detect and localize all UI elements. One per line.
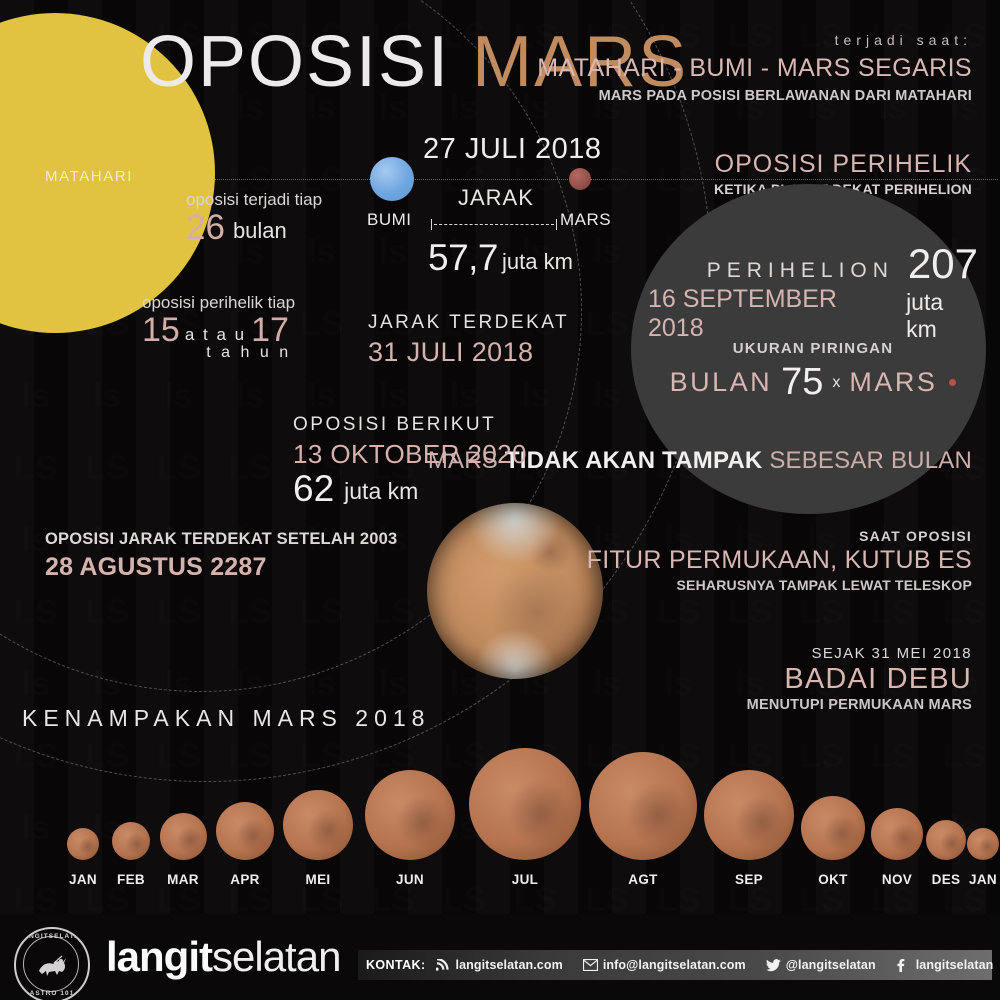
alignment-note: terjadi saat: MATAHARI - BUMI - MARS SEG… (537, 32, 972, 104)
distance-measure-bar (431, 219, 557, 229)
timeline-mars-disc (871, 808, 923, 860)
title-part-one: OPOSISI (140, 22, 450, 102)
perihelic-interval-block: oposisi perihelik tiap 15 a t a u 17 t a… (142, 293, 295, 362)
timeline-mars-disc (160, 813, 207, 860)
sun-label: MATAHARI (45, 168, 133, 185)
contact-label: KONTAK: (366, 958, 426, 972)
surface-features-caption: SAAT OPOSISI (587, 528, 972, 544)
measure-line (434, 224, 554, 225)
centaur-figure-icon (35, 951, 69, 979)
contact-item[interactable]: langitselatan (896, 958, 994, 972)
surface-features-sub: SEHARUSNYA TAMPAK LEWAT TELESKOP (587, 577, 972, 593)
distance-value: 57,7 (428, 237, 498, 279)
timeline-month-label: FEB (117, 872, 145, 887)
alignment-note-line1: terjadi saat: (537, 32, 972, 48)
brand-wordmark: langitselatan (106, 936, 340, 978)
perihelion-date: 16 SEPTEMBER 2018 (648, 285, 892, 343)
timeline-mars-disc (589, 752, 697, 860)
contact-item[interactable]: langitselatan.com (436, 958, 563, 972)
closest-approach-caption: JARAK TERDEKAT (368, 312, 569, 334)
mars-dot-icon (949, 379, 956, 386)
opposition-interval-value: 26 (186, 208, 225, 248)
contact-text: @langitselatan (786, 958, 876, 972)
opposition-interval-caption: oposisi terjadi tiap (186, 190, 322, 210)
infographic-poster: LSLSLSLSLSLSLSLSLSLSLSLSLSLSlslslslslsls… (0, 0, 1000, 1000)
closest-since-2003-block: OPOSISI JARAK TERDEKAT SETELAH 2003 28 A… (45, 530, 397, 582)
next-opposition-date: 13 OKTOBER 2020 (293, 439, 527, 470)
opposition-interval-block: oposisi terjadi tiap 26 bulan (186, 190, 322, 248)
next-opposition-unit: juta km (344, 478, 418, 510)
contact-item[interactable]: @langitselatan (766, 958, 876, 972)
times-symbol: x (832, 374, 840, 392)
myth-post: SEBESAR BULAN (769, 447, 972, 474)
surface-features-heading: FITUR PERMUKAAN, KUTUB ES (587, 546, 972, 575)
surface-features-block: SAAT OPOSISI FITUR PERMUKAAN, KUTUB ES S… (587, 528, 972, 593)
closest-since-2003-caption: OPOSISI JARAK TERDEKAT SETELAH 2003 (45, 530, 397, 549)
timeline-month-label: APR (230, 872, 259, 887)
perihelic-interval-caption: oposisi perihelik tiap (142, 293, 295, 313)
contact-bar: KONTAK: langitselatan.cominfo@langitsela… (358, 950, 992, 980)
footer: LANGITSELATAN ASTRO 101 langitselatan KO… (0, 914, 1000, 1000)
langitselatan-seal-logo: LANGITSELATAN ASTRO 101 (14, 927, 90, 1000)
distance-value-block: 57,7 juta km (428, 237, 573, 279)
opposition-date: 27 JULI 2018 (423, 133, 602, 166)
distance-unit: juta km (502, 249, 573, 279)
disc-size-caption: UKURAN PIRINGAN (648, 340, 978, 357)
mars-photo (427, 503, 603, 679)
moon-word: BULAN (670, 367, 773, 398)
mars-size-timeline (0, 760, 1000, 860)
dust-storm-sub: MENUTUPI PERMUKAAN MARS (747, 697, 972, 713)
rss-icon (436, 959, 451, 972)
timeline-mars-disc (704, 770, 794, 860)
timeline-month-label: AGT (628, 872, 657, 887)
timeline-month-label: MEI (306, 872, 331, 887)
brand-part-one: langit (106, 933, 212, 980)
dust-storm-heading: BADAI DEBU (747, 663, 972, 696)
perihelion-block: PERIHELION 207 16 SEPTEMBER 2018 juta km (648, 245, 978, 343)
next-opposition-distance: 62 (293, 468, 334, 510)
timeline-mars-disc (216, 802, 274, 860)
measure-cap-left (431, 219, 432, 230)
seal-top-text: LANGITSELATAN (16, 933, 88, 940)
dust-storm-block: SEJAK 31 MEI 2018 BADAI DEBU MENUTUPI PE… (747, 645, 972, 713)
timeline-month-label: MAR (167, 872, 199, 887)
perihelic-interval-value-one: 15 (142, 311, 180, 350)
earth-label: BUMI (367, 210, 412, 230)
contact-text: langitselatan (916, 958, 994, 972)
size-factor-value: 75 (781, 361, 823, 404)
alignment-note-line3: MARS PADA POSISI BERLAWANAN DARI MATAHAR… (537, 88, 972, 104)
watermark-mark: ls (643, 648, 714, 720)
contact-text: info@langitselatan.com (603, 958, 746, 972)
opposition-interval-unit: bulan (233, 218, 287, 248)
mars-label: MARS (560, 210, 611, 230)
timeline-mars-disc (67, 828, 99, 860)
timeline-month-label: JAN (969, 872, 997, 887)
perihelic-opposition-title: OPOSISI PERIHELIK (714, 150, 972, 179)
watermark-mark: ls (571, 648, 642, 720)
timeline-heading: KENAMPAKAN MARS 2018 (22, 705, 430, 732)
measure-cap-right (556, 219, 557, 230)
timeline-mars-disc (283, 790, 353, 860)
timeline-mars-disc (469, 748, 581, 860)
next-opposition-block: OPOSISI BERIKUT 13 OKTOBER 2020 62 juta … (293, 414, 527, 510)
timeline-month-label: JUL (512, 872, 538, 887)
closest-since-2003-date: 28 AGUSTUS 2287 (45, 553, 397, 582)
timeline-month-label: OKT (818, 872, 847, 887)
mars-word: MARS (849, 367, 937, 398)
timeline-month-label: NOV (882, 872, 912, 887)
timeline-month-label: SEP (735, 872, 763, 887)
timeline-mars-disc (801, 796, 865, 860)
next-opposition-caption: OPOSISI BERIKUT (293, 414, 527, 436)
earth-disc (370, 157, 414, 201)
facebook-icon (896, 959, 911, 972)
mars-disc-small (569, 168, 591, 190)
dust-storm-caption: SEJAK 31 MEI 2018 (747, 645, 972, 662)
contact-text: langitselatan.com (456, 958, 563, 972)
timeline-month-label: JAN (69, 872, 97, 887)
perihelion-label: PERIHELION (707, 259, 894, 283)
timeline-month-label: JUN (396, 872, 424, 887)
timeline-mars-disc (967, 828, 999, 860)
mail-icon (583, 959, 598, 972)
closest-approach-block: JARAK TERDEKAT 31 JULI 2018 (368, 312, 569, 368)
timeline-mars-disc (112, 822, 150, 860)
timeline-mars-disc (365, 770, 455, 860)
disc-size-block: UKURAN PIRINGAN BULAN 75 x MARS (648, 340, 978, 404)
distance-label: JARAK (458, 185, 534, 211)
perihelion-distance-unit: juta km (906, 289, 978, 343)
twitter-icon (766, 959, 781, 972)
closest-approach-date: 31 JULI 2018 (368, 337, 569, 368)
alignment-note-line2: MATAHARI - BUMI - MARS SEGARIS (537, 54, 972, 83)
timeline-month-labels: JANFEBMARAPRMEIJUNJULAGTSEPOKTNOVDESJAN (0, 872, 1000, 894)
brand-part-two: selatan (212, 933, 340, 980)
contact-item[interactable]: info@langitselatan.com (583, 958, 746, 972)
seal-bottom-text: ASTRO 101 (16, 990, 88, 997)
timeline-mars-disc (926, 820, 966, 860)
myth-emphasis: TIDAK AKAN TAMPAK (505, 447, 763, 474)
timeline-month-label: DES (932, 872, 961, 887)
perihelion-distance-value: 207 (908, 245, 978, 283)
